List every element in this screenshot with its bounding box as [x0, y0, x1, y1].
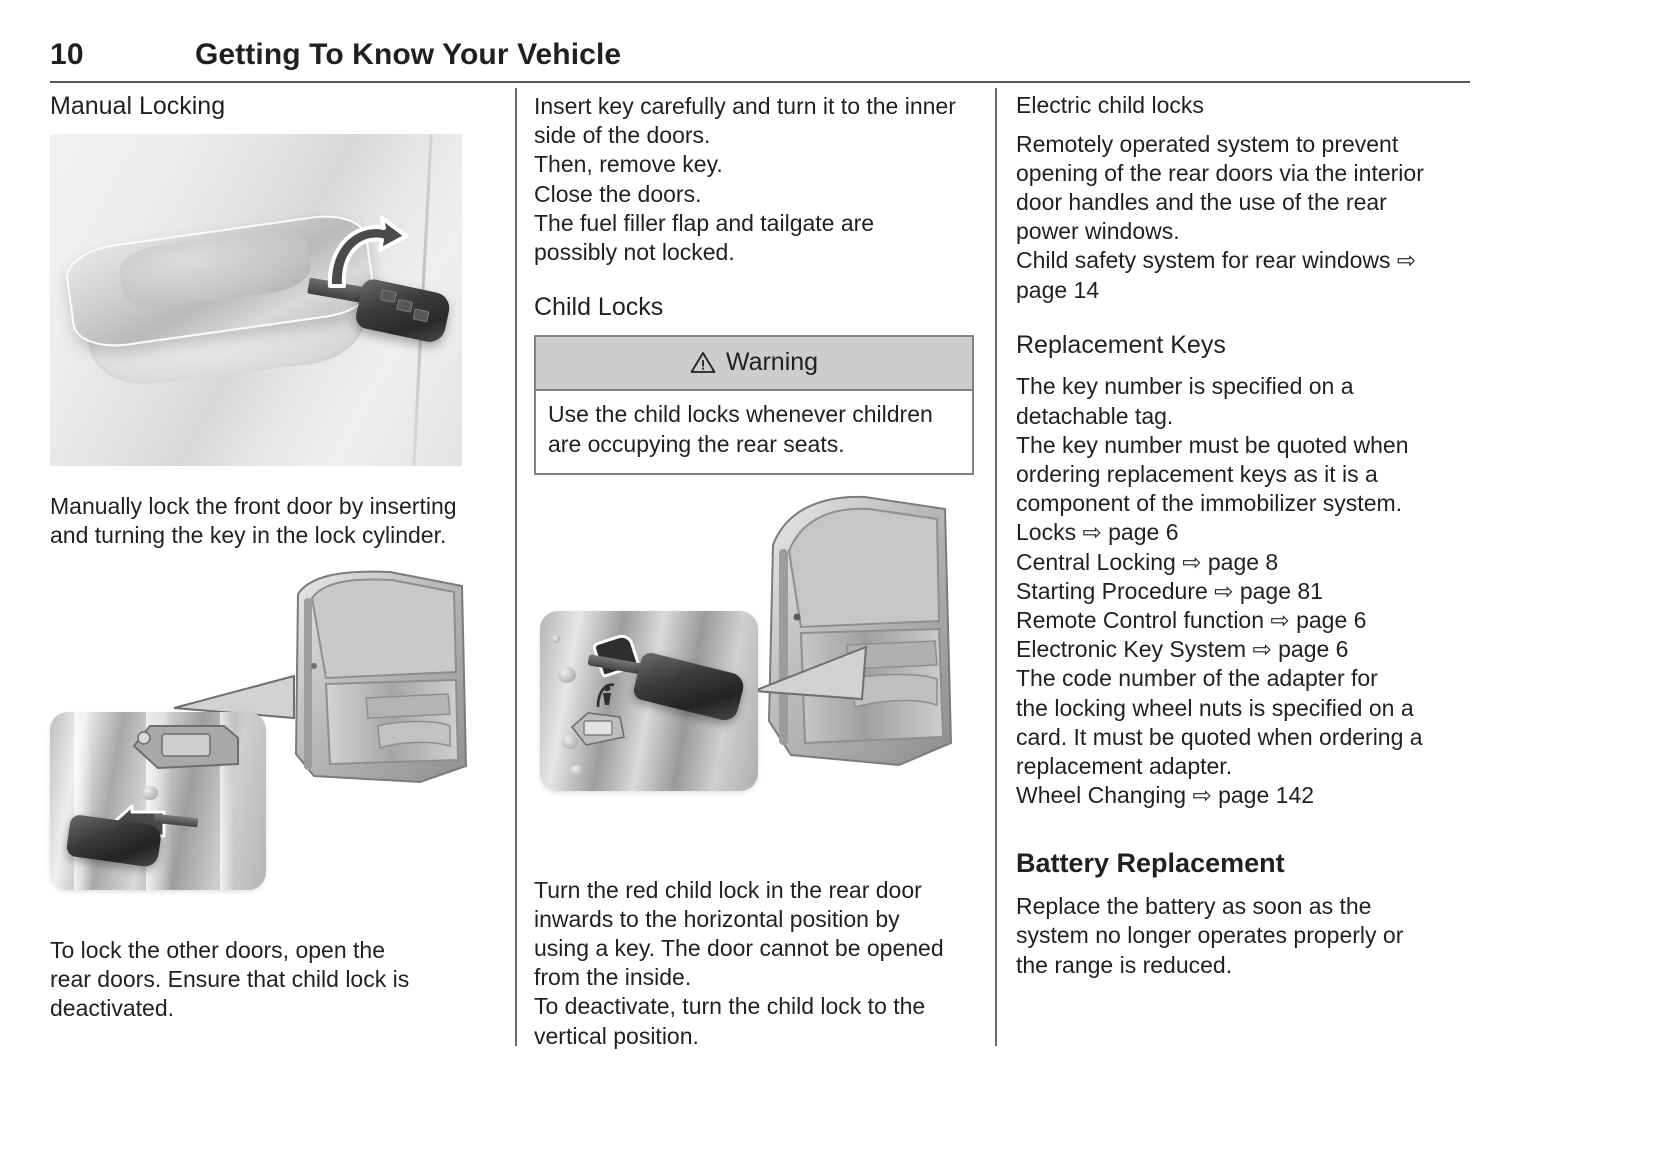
lock-other-doors-paragraph: To lock the other doors, open the rear d…	[50, 936, 480, 1024]
key-fob	[632, 650, 746, 722]
door-latch-graphic	[128, 720, 248, 776]
column-divider-1	[515, 88, 517, 1046]
door-pin-bottom	[570, 765, 584, 777]
lock-cylinder-detail-box	[50, 712, 266, 890]
right-column: Electric child locks Remotely operated s…	[1016, 92, 1456, 980]
chapter-title: Getting To Know Your Vehicle	[195, 38, 621, 72]
replacement-keys-heading: Replacement Keys	[1016, 331, 1456, 361]
page-header: 10 Getting To Know Your Vehicle	[50, 38, 1470, 88]
callout-leader-line	[750, 643, 870, 715]
middle-column: Insert key carefully and turn it to the …	[534, 92, 974, 1051]
rear-door-graphic	[739, 493, 954, 778]
warning-box: Warning Use the child locks whenever chi…	[534, 335, 974, 475]
turn-arrow-icon	[322, 216, 408, 294]
lock-cylinder-pin	[142, 786, 158, 800]
child-lock-detail-box	[540, 611, 758, 791]
rear-door-child-lock-illustration	[534, 493, 954, 838]
header-rule	[50, 81, 1470, 83]
fob-button-unlock	[396, 298, 413, 312]
door-handle-with-key-illustration	[50, 134, 462, 466]
front-door-lock-cylinder-illustration	[50, 568, 470, 898]
battery-replacement-heading: Battery Replacement	[1016, 848, 1456, 880]
warning-title: Warning	[726, 348, 818, 377]
insert-key-paragraph: Insert key carefully and turn it to the …	[534, 92, 974, 267]
child-seat-symbol-icon	[594, 679, 622, 711]
manual-locking-heading: Manual Locking	[50, 92, 480, 122]
fob-button-tailgate	[413, 308, 430, 322]
warning-triangle-icon	[690, 351, 716, 374]
replacement-keys-paragraph: The key number is specified on a detacha…	[1016, 372, 1456, 810]
child-locks-heading: Child Locks	[534, 293, 974, 323]
child-lock-instructions-paragraph: Turn the red child lock in the rear door…	[534, 876, 974, 1051]
column-divider-2	[995, 88, 997, 1046]
front-door-graphic	[270, 568, 470, 798]
page-number: 10	[50, 38, 84, 72]
door-pin-mid	[558, 667, 576, 683]
battery-replacement-paragraph: Replace the battery as soon as the syste…	[1016, 892, 1456, 980]
manual-locking-paragraph: Manually lock the front door by insertin…	[50, 492, 480, 550]
left-column: Manual Locking Manually lock the front d…	[50, 92, 480, 1024]
warning-box-header: Warning	[536, 337, 972, 391]
warning-body: Use the child locks whenever children ar…	[536, 391, 972, 473]
door-pin-top	[552, 635, 560, 643]
electric-child-locks-subheading: Electric child locks	[1016, 92, 1456, 120]
manual-page: 10 Getting To Know Your Vehicle Manual L…	[0, 0, 1653, 1165]
electric-child-locks-paragraph: Remotely operated system to prevent open…	[1016, 130, 1456, 305]
